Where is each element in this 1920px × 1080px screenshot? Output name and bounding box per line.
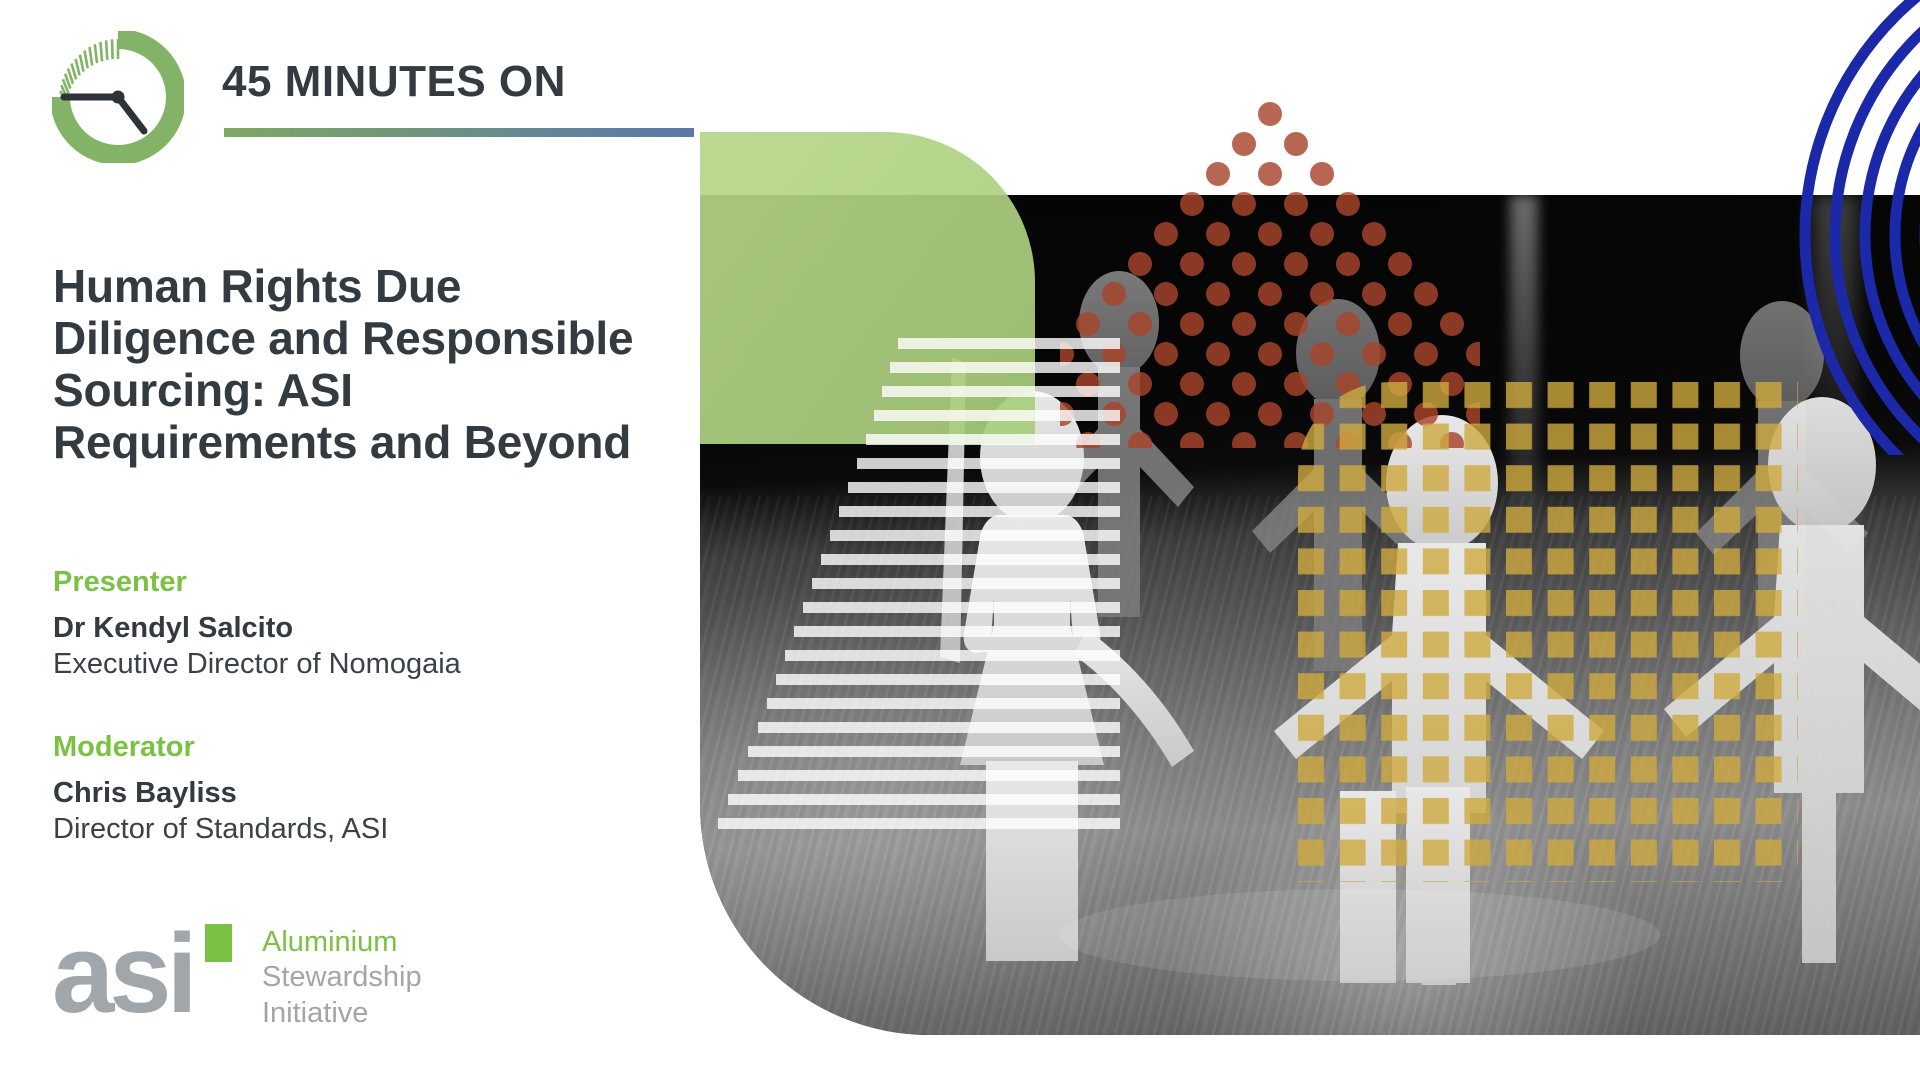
presenter-label: Presenter <box>53 565 653 600</box>
asi-word-stewardship: Stewardship <box>262 960 462 995</box>
asi-word-initiative: Initiative <box>262 996 462 1031</box>
eyebrow-title: 45 MINUTES ON <box>222 60 566 104</box>
yellow-square-grid-pattern <box>1298 382 1798 882</box>
asi-wordmark-icon: asi <box>52 920 252 1032</box>
white-stripe-wedge-pattern <box>700 330 1120 850</box>
presenter-role: Executive Director of Nomogaia <box>53 646 653 682</box>
asi-logo: asi Aluminium Stewardship Initiative <box>52 920 432 1040</box>
moderator-block: Moderator Chris Bayliss Director of Stan… <box>53 730 653 847</box>
eyebrow-row: 45 MINUTES ON <box>52 28 672 148</box>
asi-logo-words: Aluminium Stewardship Initiative <box>262 925 462 1031</box>
presenter-name: Dr Kendyl Salcito <box>53 610 653 646</box>
clock-timer-icon <box>52 31 184 163</box>
page-title: Human Rights Due Diligence and Responsib… <box>53 261 653 469</box>
moderator-label: Moderator <box>53 730 653 765</box>
moderator-role: Director of Standards, ASI <box>53 811 653 847</box>
moderator-name: Chris Bayliss <box>53 775 653 811</box>
eyebrow-gradient-rule <box>224 128 694 137</box>
asi-word-aluminium: Aluminium <box>262 925 462 960</box>
left-content-panel: 45 MINUTES ON Human Rights Due Diligence… <box>0 0 700 1080</box>
decorative-collage <box>700 0 1920 1080</box>
presenter-block: Presenter Dr Kendyl Salcito Executive Di… <box>53 565 653 682</box>
svg-text:asi: asi <box>52 920 193 1032</box>
